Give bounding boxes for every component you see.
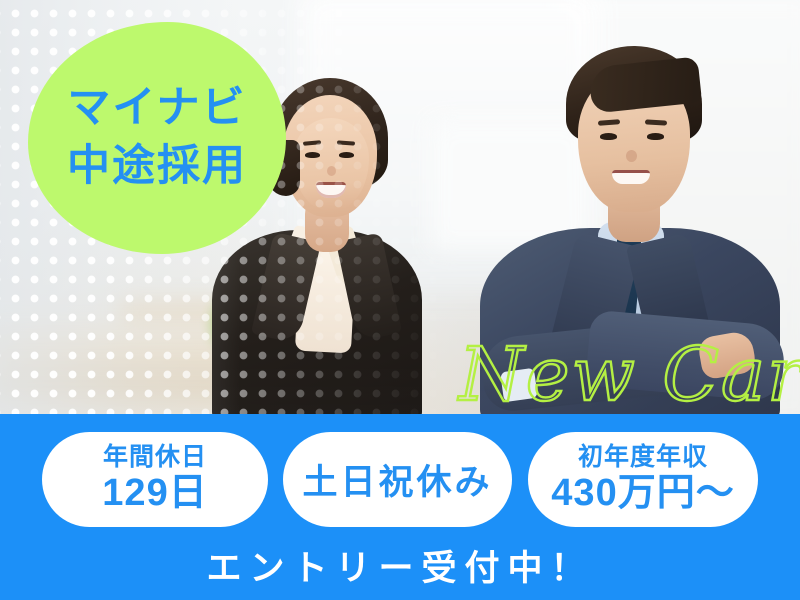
benefit-pill-first-year-salary: 初年度年収 430万円～	[528, 432, 758, 527]
benefit-pill-group: 年間休日 129日 土日祝休み 初年度年収 430万円～	[0, 432, 800, 528]
bottom-info-bar: 年間休日 129日 土日祝休み 初年度年収 430万円～ エントリー受付中！	[0, 414, 800, 600]
man-nose	[626, 150, 637, 162]
recruitment-banner: マイナビ 中途採用 New Career 年間休日 129日 土日祝休み 初年度…	[0, 0, 800, 600]
brand-badge-line1: マイナビ	[67, 80, 246, 138]
pill1-value: 129日	[102, 472, 207, 515]
man-smile	[612, 170, 650, 184]
pill3-label: 初年度年収	[578, 444, 708, 472]
man-eye-left	[600, 133, 617, 140]
pill3-value: 430万円～	[551, 472, 734, 515]
benefit-pill-weekend-holidays: 土日祝休み	[283, 432, 512, 527]
benefit-pill-annual-holidays: 年間休日 129日	[42, 432, 268, 527]
pill1-label: 年間休日	[103, 444, 207, 472]
pill2-label: 土日祝休み	[302, 454, 492, 505]
entry-status-text: エントリー受付中！	[0, 540, 800, 591]
man-shirt-cuff	[500, 368, 538, 402]
brand-badge-line2: 中途採用	[67, 138, 247, 196]
man-eye-right	[647, 133, 664, 140]
man-eyebrow-right	[645, 119, 667, 125]
